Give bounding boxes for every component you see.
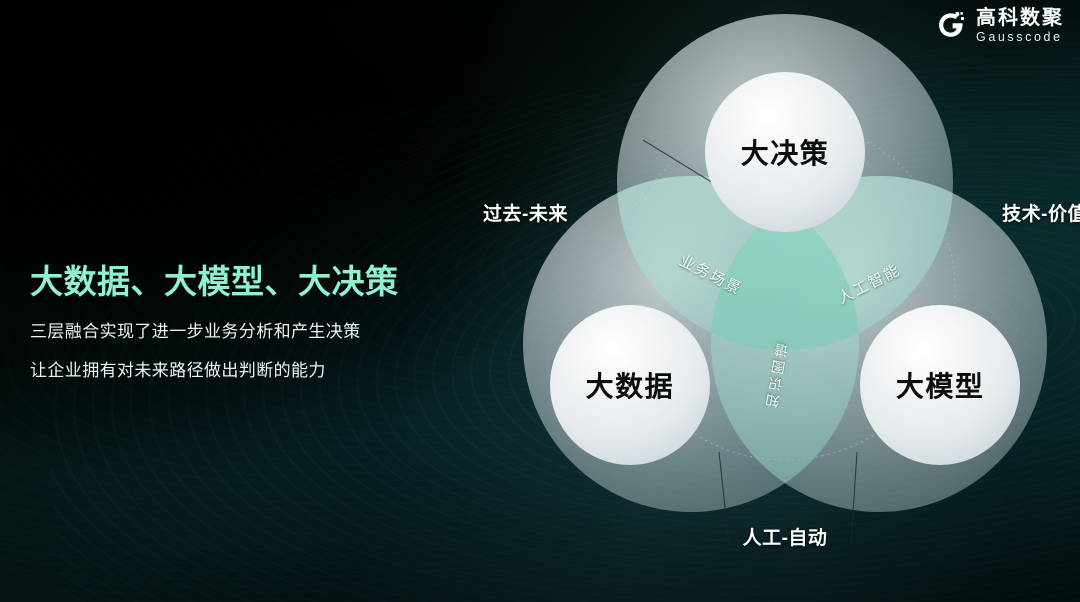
venn-circles [505, 14, 1065, 574]
node-label-bigdata: 大数据 [586, 365, 675, 405]
node-label-decision: 大决策 [741, 132, 830, 172]
axis-label-bottom: 人工-自动 [743, 523, 828, 550]
venn-diagram: 过去-未来 技术-价值 人工-自动 大决策 大数据 大模型 业务场景 人工智能 … [505, 14, 1065, 574]
axis-label-left: 过去-未来 [483, 199, 568, 226]
page-title: 大数据、大模型、大决策 [30, 255, 460, 303]
slide-canvas: 高科数聚 Gausscode 大数据、大模型、大决策 三层融合实现了进一步业务分… [0, 0, 1080, 602]
copy-block: 大数据、大模型、大决策 三层融合实现了进一步业务分析和产生决策 让企业拥有对未来… [30, 255, 460, 381]
subtitle-line-1: 三层融合实现了进一步业务分析和产生决策 [30, 317, 460, 342]
subtitle-line-2: 让企业拥有对未来路径做出判断的能力 [30, 356, 460, 381]
axis-label-right: 技术-价值 [1002, 199, 1080, 226]
node-label-bigmodel: 大模型 [896, 365, 985, 405]
